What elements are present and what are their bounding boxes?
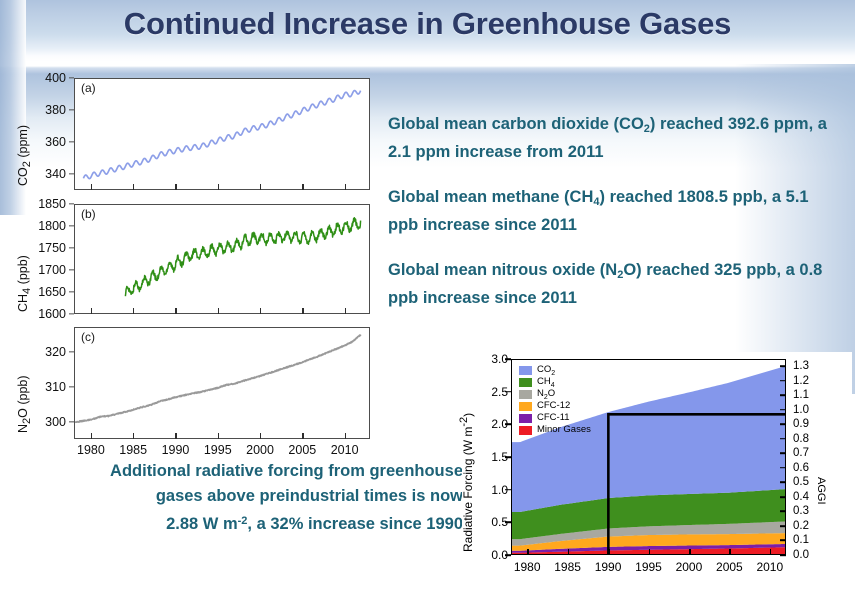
rf-legend-item: CH4	[519, 377, 591, 388]
rf-ytick-label: 2.5	[470, 385, 508, 399]
page-title: Continued Increase in Greenhouse Gases	[0, 6, 855, 42]
rf-y2tick-mark	[780, 467, 786, 469]
rf-legend-item: CO2	[519, 365, 591, 376]
rf-ytick-label: 1.5	[470, 450, 508, 464]
n2o-panel-ytick-label: 320	[14, 345, 66, 359]
n2o-panel-xtick-label: 1985	[119, 443, 147, 457]
ch4-panel-ytick-label: 1800	[14, 219, 66, 233]
co2-panel-y-axis-label: CO2 (ppm)	[16, 125, 33, 186]
rf-xtick-label: 2010	[756, 560, 783, 574]
co2-panel: (a)	[74, 78, 370, 190]
n2o-panel-y-axis-label-text: N	[16, 424, 30, 433]
ch4-panel-xtick-mark	[302, 308, 303, 314]
forcing-statement-line3b: , a 32% increase since 1990	[247, 515, 463, 533]
n2o-panel-xtick-label: 1990	[162, 443, 190, 457]
n2o-panel-xtick-mark	[260, 433, 261, 439]
n2o-panel-xtick-mark	[175, 433, 176, 439]
rf-xtick-mark	[729, 549, 731, 555]
n2o-panel-xtick-mark	[133, 433, 134, 439]
ch4-trace	[75, 205, 369, 313]
co2-panel-xtick-mark	[218, 184, 219, 190]
co2-panel-xtick-mark	[345, 184, 346, 190]
rf-xtick-mark	[527, 549, 529, 555]
rf-y2tick-mark	[780, 409, 786, 411]
rf-y-axis-label-close: )	[461, 413, 475, 417]
forcing-statement-line1: Additional radiative forcing from greenh…	[110, 462, 463, 480]
co2-panel-xtick-mark	[302, 184, 303, 190]
rf-y2tick-mark	[780, 380, 786, 382]
rf-y2tick-mark	[780, 511, 786, 513]
co2-panel-y-axis-label-unit: (ppm)	[16, 125, 30, 161]
co2-bullet: Global mean carbon dioxide (CO2) reached…	[388, 113, 843, 164]
ch4-panel-ytick-label: 1850	[14, 197, 66, 211]
co2-panel-xtick-mark	[91, 184, 92, 190]
ch4-panel-xtick-mark	[345, 308, 346, 314]
rf-legend-swatch	[519, 414, 532, 423]
co2-panel-ytick-mark	[69, 77, 74, 78]
rf-y2tick-mark	[780, 482, 786, 484]
ch4-panel-ytick-mark	[69, 225, 74, 226]
ch4-panel-ytick-mark	[69, 269, 74, 270]
rf-y2tick-label: 0.1	[793, 534, 809, 546]
n2o-panel-xtick-mark	[345, 433, 346, 439]
rf-legend: CO2CH4N2OCFC-12CFC-11Minor Gases	[519, 365, 591, 437]
rf-y2tick-mark	[780, 394, 786, 396]
ch4-panel-y-axis-label-sub: 4	[21, 288, 33, 294]
rf-legend-item: CFC-11	[519, 413, 591, 424]
n2o-panel-xtick-label: 2010	[331, 443, 359, 457]
rf-y2tick-label: 0.9	[793, 418, 809, 430]
n2o-panel: (c)	[74, 327, 370, 439]
rf-xtick-mark	[649, 549, 651, 555]
ch4-bullet: Global mean methane (CH4) reached 1808.5…	[388, 186, 843, 237]
key-findings-text: Global mean carbon dioxide (CO2) reached…	[388, 113, 843, 332]
rf-legend-swatch	[519, 426, 532, 435]
rf-y-axis-label-exponent: -2	[458, 417, 470, 427]
radiative-forcing-chart: Radiative Forcing (W m-2) AGGI CO2CH4N2O…	[462, 352, 852, 600]
rf-y2tick-label: 0.0	[793, 549, 809, 561]
n2o-panel-y-axis-label-sub: 2	[21, 418, 33, 424]
rf-ytick-mark	[505, 489, 511, 491]
rf-xtick-mark	[608, 549, 610, 555]
n2o-bullet: Global mean nitrous oxide (N2O) reached …	[388, 259, 843, 310]
rf-y2tick-label: 0.7	[793, 447, 809, 459]
rf-ytick-label: 2.0	[470, 417, 508, 431]
rf-ytick-mark	[505, 424, 511, 426]
ch4-panel-ytick-mark	[69, 203, 74, 204]
co2-panel-xtick-mark	[133, 184, 134, 190]
rf-y2tick-mark	[780, 453, 786, 455]
ch4-panel-xtick-mark	[175, 308, 176, 314]
n2o-panel-xtick-label: 1995	[204, 443, 232, 457]
n2o-panel-xtick-label: 2005	[288, 443, 316, 457]
co2-panel-ytick-mark	[69, 141, 74, 142]
rf-y2tick-mark	[780, 496, 786, 498]
rf-xtick-label: 2000	[676, 560, 703, 574]
co2-panel-ytick-label: 380	[14, 103, 66, 117]
rf-xtick-mark	[568, 549, 570, 555]
ch4-panel-y-axis-label-text: CH	[16, 294, 30, 312]
rf-y2tick-label: 0.6	[793, 462, 809, 474]
rf-ytick-label: 3.0	[470, 352, 508, 366]
rf-y2tick-mark	[780, 540, 786, 542]
n2o-panel-ytick-mark	[69, 351, 74, 352]
rf-ytick-mark	[505, 522, 511, 524]
rf-y2tick-mark	[780, 424, 786, 426]
radiative-forcing-statement: Additional radiative forcing from greenh…	[8, 459, 463, 537]
n2o-panel-ytick-mark	[69, 386, 74, 387]
rf-xtick-label: 1980	[514, 560, 541, 574]
n2o-panel-xtick-label: 2000	[246, 443, 274, 457]
rf-ytick-mark	[505, 554, 511, 556]
rf-y2tick-label: 1.2	[793, 375, 809, 387]
rf-y2tick-label: 0.3	[793, 505, 809, 517]
rf-y2tick-mark	[780, 525, 786, 527]
co2-panel-y-axis-label-sub: 2	[21, 161, 33, 167]
co2-trace	[75, 79, 369, 189]
rf-legend-item: CFC-12	[519, 401, 591, 412]
n2o-panel-xtick-label: 1980	[77, 443, 105, 457]
ch4-panel-ytick-label: 1750	[14, 241, 66, 255]
co2-panel-y-axis-label-text: CO	[16, 167, 30, 186]
co2-bullet-part1: Global mean carbon dioxide (CO	[388, 115, 644, 133]
ch4-panel-ytick-mark	[69, 313, 74, 314]
n2o-bullet-part1: Global mean nitrous oxide (N	[388, 261, 617, 279]
rf-legend-item: Minor Gases	[519, 425, 591, 436]
rf-ytick-mark	[505, 456, 511, 458]
co2-panel-ytick-label: 400	[14, 71, 66, 85]
forcing-statement-line3a: 2.88 W m	[166, 515, 238, 533]
co2-panel-xtick-mark	[260, 184, 261, 190]
rf-y2tick-mark	[780, 365, 786, 367]
rf-legend-swatch	[519, 366, 532, 375]
rf-ytick-mark	[505, 358, 511, 360]
ch4-panel-xtick-mark	[260, 308, 261, 314]
co2-panel-ytick-mark	[69, 109, 74, 110]
rf-legend-swatch	[519, 378, 532, 387]
forcing-statement-exponent: -2	[238, 515, 248, 527]
n2o-panel-xtick-mark	[218, 433, 219, 439]
rf-xtick-label: 2005	[716, 560, 743, 574]
rf-xtick-label: 1995	[635, 560, 662, 574]
n2o-panel-xtick-mark	[302, 433, 303, 439]
n2o-panel-y-axis-label-unit: O (ppb)	[16, 375, 30, 417]
ch4-panel-xtick-mark	[133, 308, 134, 314]
n2o-panel-y-axis-label: N2O (ppb)	[16, 375, 33, 433]
ch4-panel: (b)	[74, 204, 370, 314]
rf-xtick-label: 1985	[554, 560, 581, 574]
rf-ytick-label: 0.5	[470, 515, 508, 529]
rf-y2tick-mark	[780, 554, 786, 556]
rf-y2tick-label: 0.5	[793, 476, 809, 488]
ch4-bullet-part1: Global mean methane (CH	[388, 188, 593, 206]
rf-y2tick-label: 0.2	[793, 520, 809, 532]
rf-legend-swatch	[519, 402, 532, 411]
greenhouse-gas-timeseries-figure: (a) 340360380400CO2 (ppm) (b) 1600165017…	[14, 72, 362, 464]
co2-panel-xtick-mark	[175, 184, 176, 190]
rf-y2tick-label: 1.1	[793, 389, 809, 401]
rf-xtick-mark	[770, 549, 772, 555]
rf-y2tick-label: 1.0	[793, 404, 809, 416]
rf-legend-label: Minor Gases	[537, 424, 591, 437]
co2-panel-ytick-mark	[69, 173, 74, 174]
rf-ytick-label: 1.0	[470, 483, 508, 497]
forcing-statement-line2: gases above preindustrial times is now	[156, 487, 463, 505]
ch4-panel-xtick-mark	[91, 308, 92, 314]
n2o-panel-xtick-mark	[91, 433, 92, 439]
ch4-panel-ytick-mark	[69, 247, 74, 248]
rf-ytick-mark	[505, 391, 511, 393]
rf-y2tick-label: 1.3	[793, 360, 809, 372]
ch4-panel-ytick-mark	[69, 291, 74, 292]
n2o-trace	[75, 328, 369, 438]
rf-legend-swatch	[519, 390, 532, 399]
rf-ytick-label: 0.0	[470, 548, 508, 562]
ch4-panel-y-axis-label-unit: (ppb)	[16, 255, 30, 288]
rf-xtick-mark	[689, 549, 691, 555]
rf-y2tick-label: 0.4	[793, 491, 809, 503]
ch4-panel-y-axis-label: CH4 (ppb)	[16, 255, 33, 312]
rf-y2tick-label: 0.8	[793, 433, 809, 445]
rf-y2-axis-label: AGGI	[815, 477, 827, 505]
rf-y2tick-mark	[780, 438, 786, 440]
rf-legend-item: N2O	[519, 389, 591, 400]
ch4-panel-xtick-mark	[218, 308, 219, 314]
n2o-panel-ytick-mark	[69, 421, 74, 422]
rf-xtick-label: 1990	[595, 560, 622, 574]
